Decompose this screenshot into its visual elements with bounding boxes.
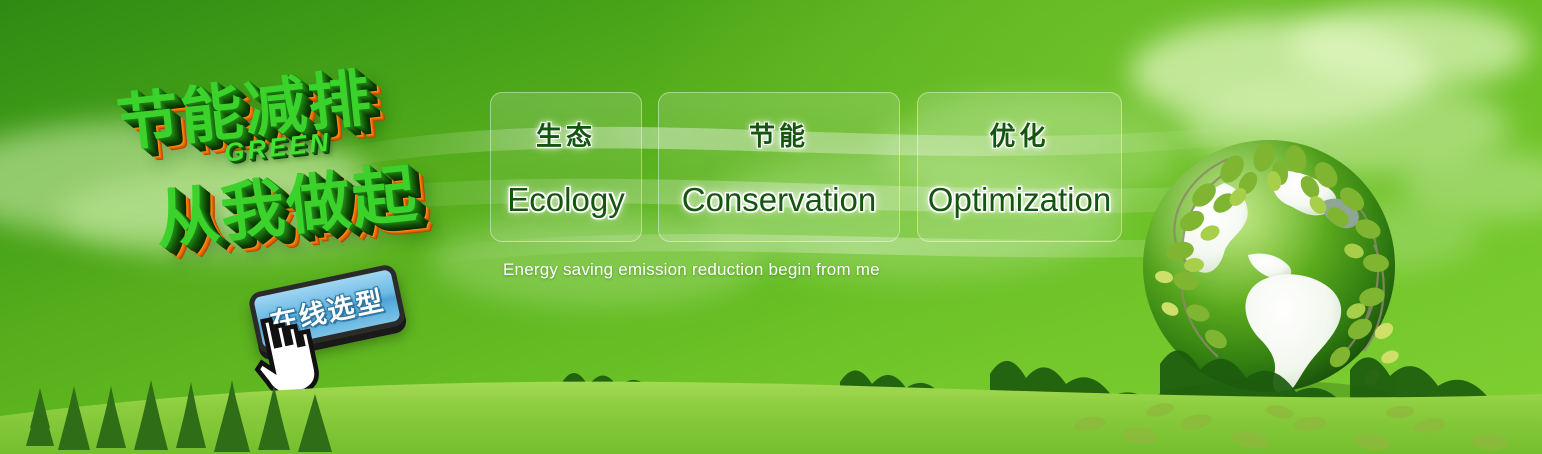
feature-card-en-label: Ecology <box>507 181 624 219</box>
feature-card-ecology[interactable]: 生态 Ecology <box>490 92 642 242</box>
headline-line-bottom: 从我做起 <box>150 142 422 261</box>
feature-card-optimization[interactable]: 优化 Optimization <box>917 92 1122 242</box>
feature-card-cn-label: 优化 <box>989 116 1049 153</box>
feature-card-list: 生态 Ecology 节能 Conservation 优化 Optimizati… <box>490 92 1122 242</box>
feature-card-conservation[interactable]: 节能 Conservation <box>658 92 900 242</box>
feature-card-en-label: Conservation <box>682 181 876 219</box>
feature-card-en-label: Optimization <box>928 181 1111 219</box>
headline-art: 节能减排 GREEN 从我做起 <box>96 36 496 276</box>
grass-field-icon <box>0 324 1542 454</box>
feature-card-cn-label: 生态 <box>536 116 596 153</box>
eco-promo-banner: 节能减排 GREEN 从我做起 在线选型 生态 Ecology 节能 Conse… <box>0 0 1542 454</box>
feature-card-cn-label: 节能 <box>749 116 809 153</box>
tagline: Energy saving emission reduction begin f… <box>503 260 880 280</box>
